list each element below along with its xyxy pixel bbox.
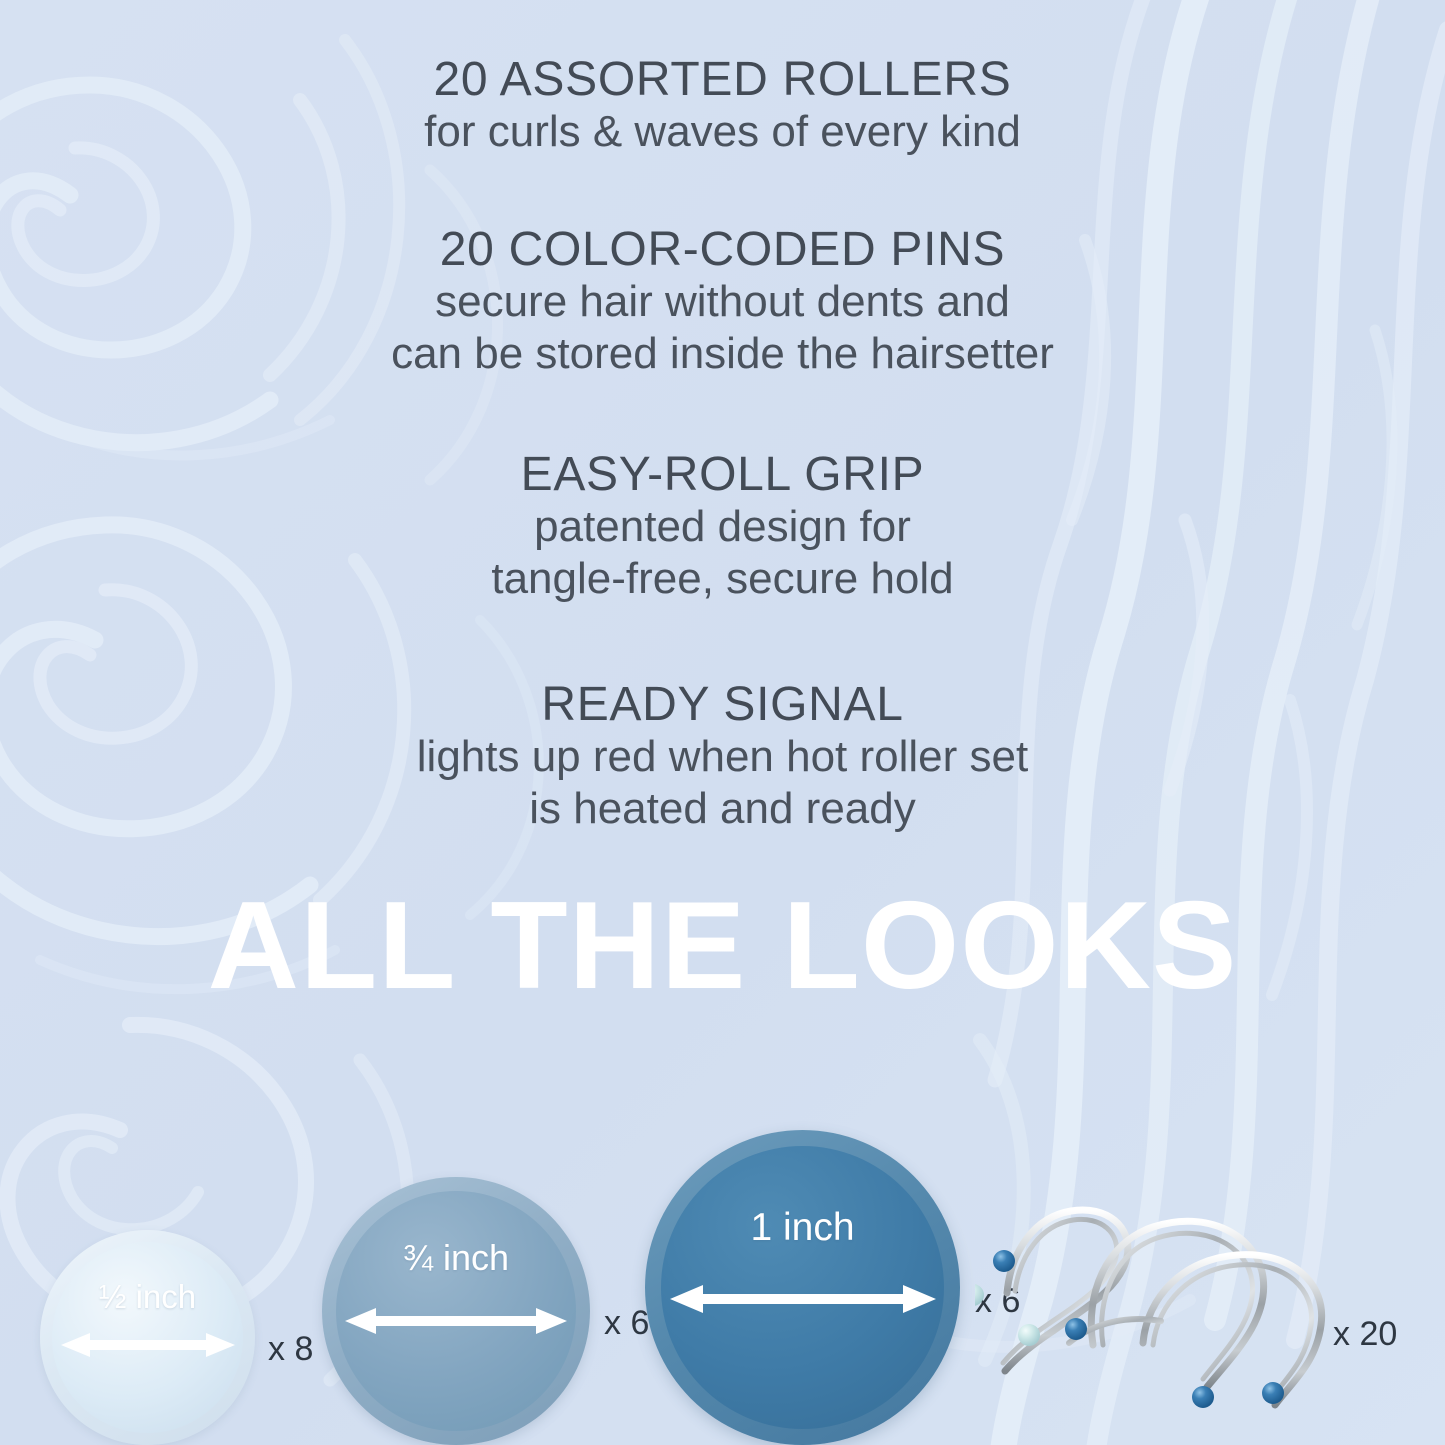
pin-bead-mint	[1018, 1324, 1040, 1346]
feature-subtitle-line: tangle-free, secure hold	[0, 553, 1445, 605]
feature-title: 20 COLOR-CODED PINS	[0, 225, 1445, 276]
pin-bead-blue	[1192, 1386, 1214, 1408]
roller-size-label: ¾ inch	[322, 1237, 590, 1279]
feature-title: READY SIGNAL	[0, 680, 1445, 731]
feature-subtitle-line: patented design for	[0, 501, 1445, 553]
feature-subtitle-line: lights up red when hot roller set	[0, 731, 1445, 783]
roller-size-label: ½ inch	[40, 1278, 255, 1316]
hair-pins-illustration	[975, 1195, 1375, 1435]
feature-ready-signal: READY SIGNAL lights up red when hot roll…	[0, 680, 1445, 836]
roller-dimension-arrow	[58, 1330, 238, 1360]
roller-count-label: x 8	[268, 1330, 313, 1369]
hair-pins-item: x 20	[975, 1195, 1445, 1445]
feature-subtitle-line: secure hair without dents and	[0, 276, 1445, 328]
product-infographic: 20 ASSORTED ROLLERS for curls & waves of…	[0, 0, 1445, 1445]
pin-bead-blue	[1262, 1382, 1284, 1404]
roller-size-row: ½ inch x 8 ¾ inch x 6 1 inch x 6	[0, 1040, 1445, 1445]
one-inch-roller-item: 1 inch x 6	[645, 1130, 960, 1445]
roller-dimension-arrow	[342, 1305, 570, 1337]
feature-title: EASY-ROLL GRIP	[0, 450, 1445, 501]
feature-subtitle-line: is heated and ready	[0, 783, 1445, 835]
pin-bead-blue	[993, 1250, 1015, 1272]
half-inch-roller-item: ½ inch x 8	[40, 1230, 255, 1445]
roller-dimension-arrow	[667, 1282, 939, 1316]
feature-easy-roll-grip: EASY-ROLL GRIP patented design for tangl…	[0, 450, 1445, 606]
three-quarter-inch-roller-item: ¾ inch x 6	[322, 1177, 590, 1445]
feature-subtitle-line: can be stored inside the hairsetter	[0, 328, 1445, 380]
roller-size-label: 1 inch	[645, 1206, 960, 1250]
feature-assorted-rollers: 20 ASSORTED ROLLERS for curls & waves of…	[0, 55, 1445, 158]
feature-color-coded-pins: 20 COLOR-CODED PINS secure hair without …	[0, 225, 1445, 381]
pin-bead-blue	[1065, 1318, 1087, 1340]
roller-count-label: x 6	[604, 1304, 649, 1343]
feature-title: 20 ASSORTED ROLLERS	[0, 55, 1445, 106]
feature-subtitle-line: for curls & waves of every kind	[0, 106, 1445, 158]
headline-all-the-looks: ALL THE LOOKS	[0, 884, 1445, 1008]
pin-bead-mint	[975, 1284, 984, 1306]
pin-count-label: x 20	[1333, 1315, 1397, 1354]
